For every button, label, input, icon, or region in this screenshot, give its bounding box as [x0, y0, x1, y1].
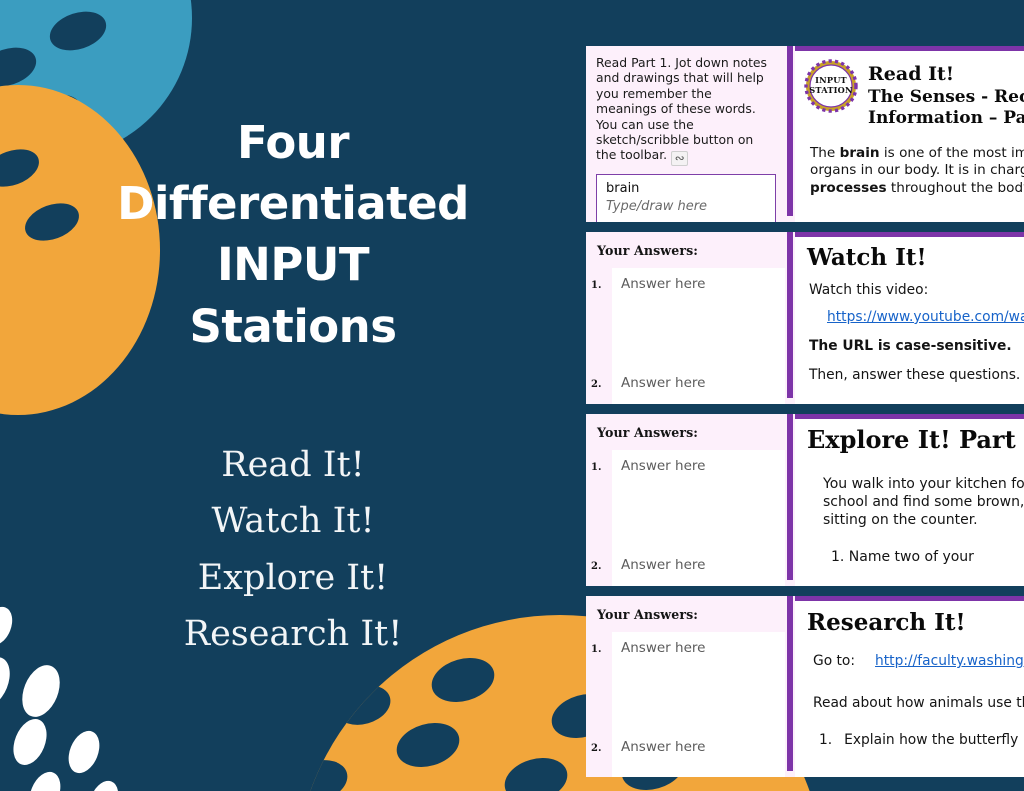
card4-research-link[interactable]: http://faculty.washington.edu [875, 653, 1024, 669]
preview-card-research-it[interactable]: Your Answers: 1. Answer here 2. Answer h… [586, 596, 1024, 777]
card1-instruction-pane: Read Part 1. Jot down notes and drawings… [586, 46, 785, 222]
card1-draw-box[interactable]: brain Type/draw here [596, 174, 776, 222]
card1-heading: Read It! The Senses - Receiving Informat… [868, 63, 1024, 130]
station-list: Read It! Watch It! Explore It! Research … [0, 437, 586, 662]
white-dots-cluster [0, 603, 124, 791]
card2-body: Watch this video: https://www.youtube.co… [809, 282, 1024, 385]
preview-card-read-it[interactable]: Read Part 1. Jot down notes and drawings… [586, 46, 1024, 222]
card3-content-pane: Explore It! Part 1 You walk into your ki… [795, 414, 1024, 586]
card3-answers-pane: Your Answers: 1. Answer here 2. Answer h… [586, 414, 785, 586]
card4-answers-pane: Your Answers: 1. Answer here 2. Answer h… [586, 596, 785, 777]
card3-answer-row-1[interactable]: 1. Answer here [612, 458, 785, 474]
card4-answer-num-1: 1. [591, 644, 601, 655]
title-line-3: INPUT [0, 234, 586, 295]
card3-answer-num-1: 1. [591, 462, 601, 473]
card3-heading: Explore It! Part 1 [807, 425, 1024, 454]
card2-answer-num-2: 2. [591, 379, 601, 390]
card2-content-pane: Watch It! Watch this video: https://www.… [795, 232, 1024, 404]
card2-line-1: Watch this video: [809, 282, 928, 298]
teal-blob [0, 0, 192, 158]
orange-blob-left [0, 85, 160, 415]
card4-answer-row-2[interactable]: 2. Answer here [612, 739, 785, 755]
card1-spine [785, 46, 795, 222]
card1-content-pane: INPUT STATION Read It! The Senses - Rece… [795, 46, 1024, 222]
card3-spine [785, 414, 795, 586]
station-explore-it: Explore It! [0, 550, 586, 606]
card2-answers-pane: Your Answers: 1. Answer here 2. Answer h… [586, 232, 785, 404]
card3-answer-text-2: Answer here [621, 557, 705, 573]
card4-answer-text-2: Answer here [621, 739, 705, 755]
card4-answer-num-2: 2. [591, 743, 601, 754]
title-line-2: Differentiated [0, 173, 586, 234]
preview-card-explore-it[interactable]: Your Answers: 1. Answer here 2. Answer h… [586, 414, 1024, 586]
card2-note: The URL is case-sensitive. [809, 338, 1024, 356]
title-line-4: Stations [0, 296, 586, 357]
card2-answer-row-1[interactable]: 1. Answer here [612, 276, 785, 292]
card2-answer-text-2: Answer here [621, 375, 705, 391]
card2-answer-text-1: Answer here [621, 276, 705, 292]
card1-subheading-1: The Senses - Receiving [868, 87, 1024, 108]
card3-answer-text-1: Answer here [621, 458, 705, 474]
card2-answers-box[interactable]: 1. Answer here 2. Answer here [612, 268, 785, 404]
card4-read-about: Read about how animals use their senses. [813, 695, 1024, 713]
station-watch-it: Watch It! [0, 493, 586, 549]
page-title: Four Differentiated INPUT Stations [0, 112, 586, 357]
card1-draw-placeholder: Type/draw here [606, 198, 767, 216]
card3-answers-label: Your Answers: [597, 425, 776, 440]
promo-panel: Four Differentiated INPUT Stations Read … [0, 0, 586, 791]
card2-video-link[interactable]: https://www.youtube.com/watch [827, 309, 1024, 327]
card4-question-1: 1.Explain how the butterfly [819, 732, 1024, 750]
card4-spine [785, 596, 795, 777]
card3-answer-row-2[interactable]: 2. Answer here [612, 557, 785, 573]
card1-instruction-text: Read Part 1. Jot down notes and drawings… [596, 55, 776, 166]
card1-draw-value: brain [606, 180, 767, 198]
card4-body: Go to:http://faculty.washington.edu Read… [813, 653, 1024, 750]
station-research-it: Research It! [0, 606, 586, 662]
card2-answer-row-2[interactable]: 2. Answer here [612, 375, 785, 391]
card4-answer-text-1: Answer here [621, 640, 705, 656]
card3-answer-num-2: 2. [591, 561, 601, 572]
scribble-icon[interactable]: ∾ [671, 151, 688, 166]
card3-question-1: 1. Name two of your [831, 548, 1024, 566]
card2-line-2: Then, answer these questions. [809, 367, 1024, 385]
card1-body-text: The brain is one of the most important o… [810, 145, 1024, 197]
card3-answers-box[interactable]: 1. Answer here 2. Answer here [612, 450, 785, 586]
preview-card-watch-it[interactable]: Your Answers: 1. Answer here 2. Answer h… [586, 232, 1024, 404]
card1-subheading-2: Information – Part 1 [868, 108, 1024, 129]
card3-scenario: You walk into your kitchen for a snack a… [823, 476, 1024, 528]
card2-answer-num-1: 1. [591, 280, 601, 291]
card4-question-num: 1. [819, 732, 832, 748]
card4-answer-row-1[interactable]: 1. Answer here [612, 640, 785, 656]
input-station-badge-icon: INPUT STATION [804, 59, 858, 113]
station-read-it: Read It! [0, 437, 586, 493]
card4-question-text: Explain how the butterfly [844, 732, 1018, 748]
card4-answers-box[interactable]: 1. Answer here 2. Answer here [612, 632, 785, 777]
card4-answers-label: Your Answers: [597, 607, 776, 622]
card2-spine [785, 232, 795, 404]
title-line-1: Four [0, 112, 586, 173]
station-preview-stack: Read Part 1. Jot down notes and drawings… [586, 0, 1024, 791]
card4-content-pane: Research It! Go to:http://faculty.washin… [795, 596, 1024, 777]
card3-body: You walk into your kitchen for a snack a… [823, 475, 1024, 566]
badge-label: INPUT STATION [804, 59, 858, 113]
card4-heading: Research It! [807, 609, 966, 636]
card2-answers-label: Your Answers: [597, 243, 776, 258]
card4-goto-label: Go to: [813, 653, 855, 671]
card2-heading: Watch It! [807, 244, 927, 271]
